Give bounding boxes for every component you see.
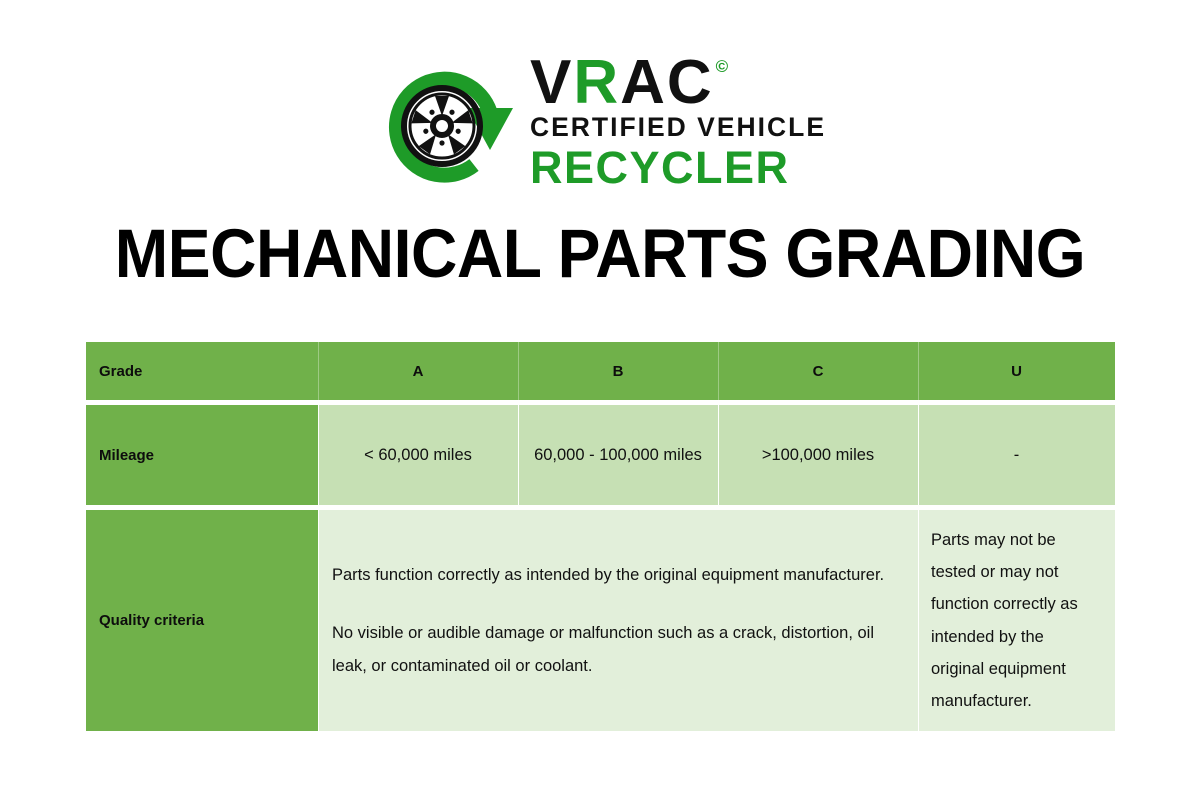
logo-inner: VRAC© CERTIFIED VEHICLE RECYCLER (374, 48, 826, 200)
table-row-mileage: Mileage < 60,000 miles 60,000 - 100,000 … (86, 405, 1115, 505)
mileage-cell-b: 60,000 - 100,000 miles (518, 405, 718, 505)
mechanical-parts-grading-table: Grade A B C U Mileage < 60,000 miles 60,… (86, 342, 1115, 731)
brand-logo: VRAC© CERTIFIED VEHICLE RECYCLER (0, 48, 1200, 208)
logo-tagline: CERTIFIED VEHICLE (530, 112, 826, 142)
row-label-quality-criteria: Quality criteria (86, 510, 318, 731)
logo-letter-v: V (530, 54, 573, 111)
mileage-cell-u: - (918, 405, 1115, 505)
quality-paragraph-2: No visible or audible damage or malfunct… (332, 617, 896, 681)
mileage-cell-a: < 60,000 miles (318, 405, 518, 505)
header-cell-grade: Grade (86, 342, 318, 400)
mileage-cell-c: >100,000 miles (718, 405, 918, 505)
logo-brand-name: VRAC© (530, 54, 730, 111)
quality-u-text: Parts may not be tested or may not funct… (931, 524, 1101, 717)
recycling-wheel-icon (374, 50, 524, 200)
header-cell-a: A (318, 342, 518, 400)
table-header-row: Grade A B C U (86, 342, 1115, 400)
logo-bottom-word: RECYCLER (530, 144, 790, 191)
table-row-quality-criteria: Quality criteria Parts function correctl… (86, 510, 1115, 731)
copyright-icon: © (716, 58, 731, 75)
logo-letters-ac: AC (620, 54, 714, 111)
quality-cell-u: Parts may not be tested or may not funct… (918, 510, 1115, 731)
logo-wordmark: VRAC© CERTIFIED VEHICLE RECYCLER (530, 48, 826, 191)
header-cell-u: U (918, 342, 1115, 400)
header-cell-c: C (718, 342, 918, 400)
page-title: MECHANICAL PARTS GRADING (42, 214, 1158, 293)
row-label-mileage: Mileage (86, 405, 318, 505)
quality-paragraph-1: Parts function correctly as intended by … (332, 559, 896, 591)
header-cell-b: B (518, 342, 718, 400)
logo-letter-r: R (573, 54, 620, 111)
quality-cell-abc: Parts function correctly as intended by … (318, 510, 918, 731)
